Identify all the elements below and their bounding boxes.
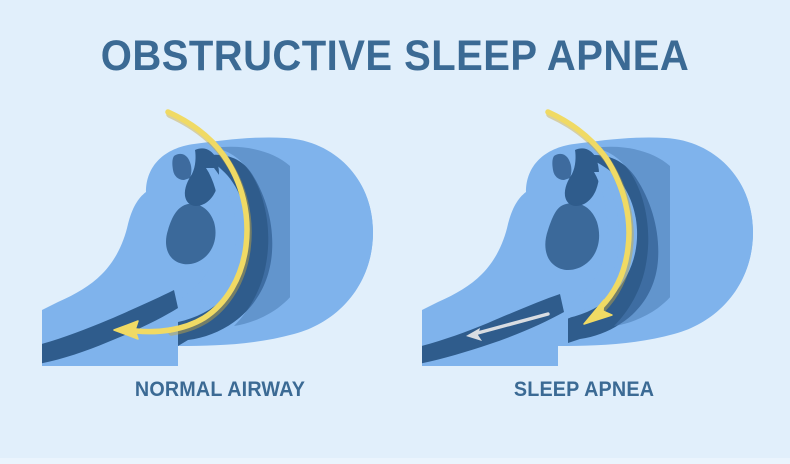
back-of-head-shape — [290, 142, 374, 334]
diagram-sleep-apnea — [408, 96, 768, 366]
caption-sleep-apnea: SLEEP APNEA — [415, 377, 753, 403]
back-of-head-shape — [670, 142, 754, 334]
page-title: OBSTRUCTIVE SLEEP APNEA — [28, 30, 763, 82]
bottom-edge-strip — [0, 458, 790, 464]
infographic-poster: OBSTRUCTIVE SLEEP APNEA — [0, 0, 790, 464]
diagram-normal-airway — [28, 96, 388, 366]
caption-normal-airway: NORMAL AIRWAY — [51, 377, 389, 403]
